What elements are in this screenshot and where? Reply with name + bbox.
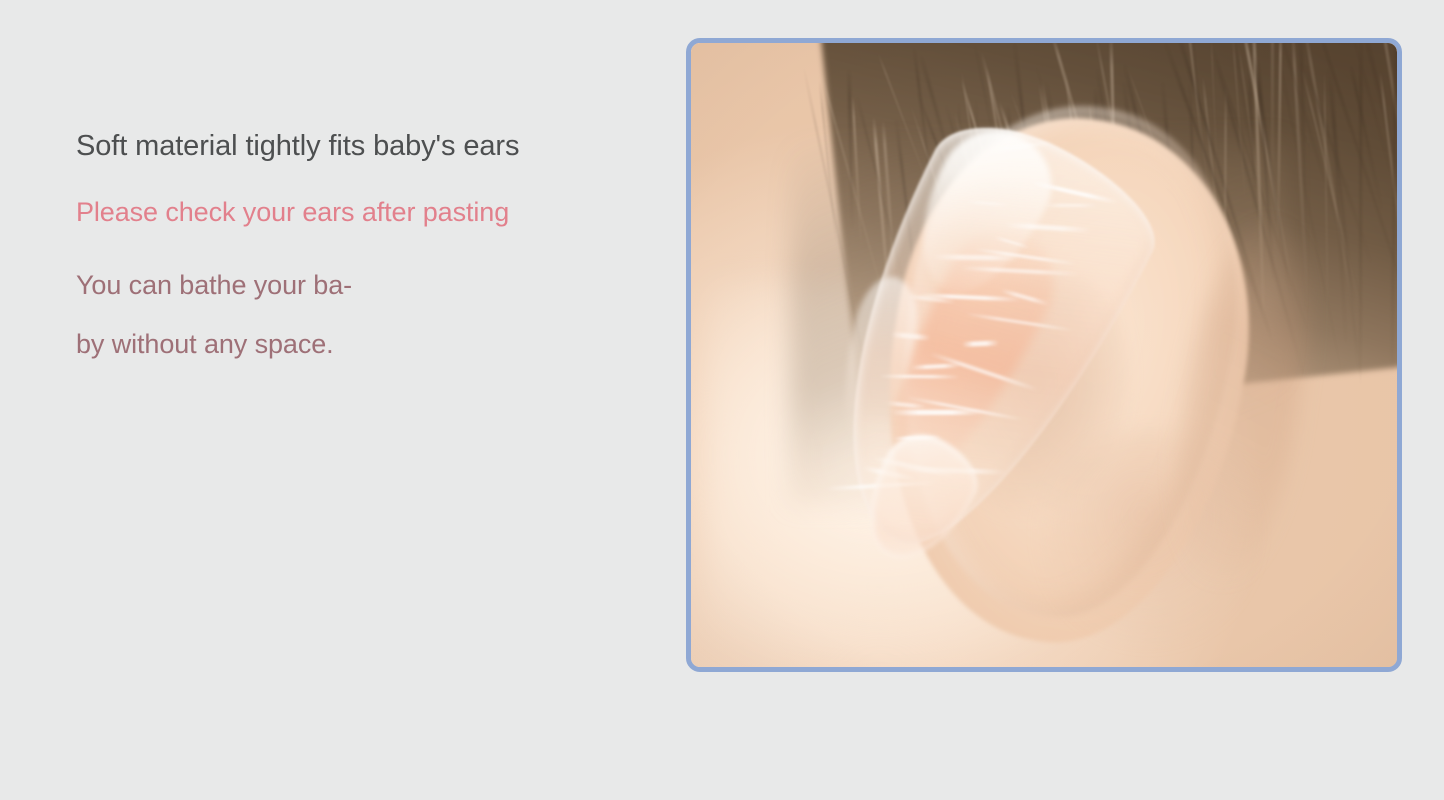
warning-text: Please check your ears after pasting bbox=[76, 199, 646, 226]
sticker-crinkle bbox=[966, 313, 1074, 332]
sticker-crinkle bbox=[1005, 222, 1091, 232]
hair-strand bbox=[1271, 43, 1274, 209]
sticker-crinkle bbox=[933, 254, 1021, 261]
sticker-crinkle bbox=[1043, 204, 1097, 207]
sticker-crinkle bbox=[994, 236, 1030, 249]
hair-strand bbox=[1390, 43, 1397, 417]
sticker-crinkle bbox=[960, 266, 1079, 276]
sticker-crinkle bbox=[891, 410, 983, 415]
note-text-line-2: by without any space. bbox=[76, 331, 646, 358]
baby-ear-photo bbox=[691, 43, 1397, 667]
sticker-crinkle bbox=[1032, 180, 1118, 203]
hair-strand bbox=[1232, 43, 1249, 240]
sticker-crinkle bbox=[967, 200, 1010, 205]
copy-block: Soft material tightly fits baby's ears P… bbox=[76, 132, 646, 358]
sticker-crinkle bbox=[962, 341, 999, 348]
sticker-crinkle bbox=[928, 351, 1038, 392]
product-photo-frame bbox=[686, 38, 1402, 672]
headline-text: Soft material tightly fits baby's ears bbox=[76, 132, 646, 161]
sticker-crinkle bbox=[911, 364, 962, 370]
hair-strand bbox=[1324, 71, 1330, 384]
product-feature-slide: Soft material tightly fits baby's ears P… bbox=[0, 0, 1444, 800]
note-text-line-1: You can bathe your ba- bbox=[76, 272, 646, 299]
sticker-crinkle bbox=[987, 141, 1053, 152]
